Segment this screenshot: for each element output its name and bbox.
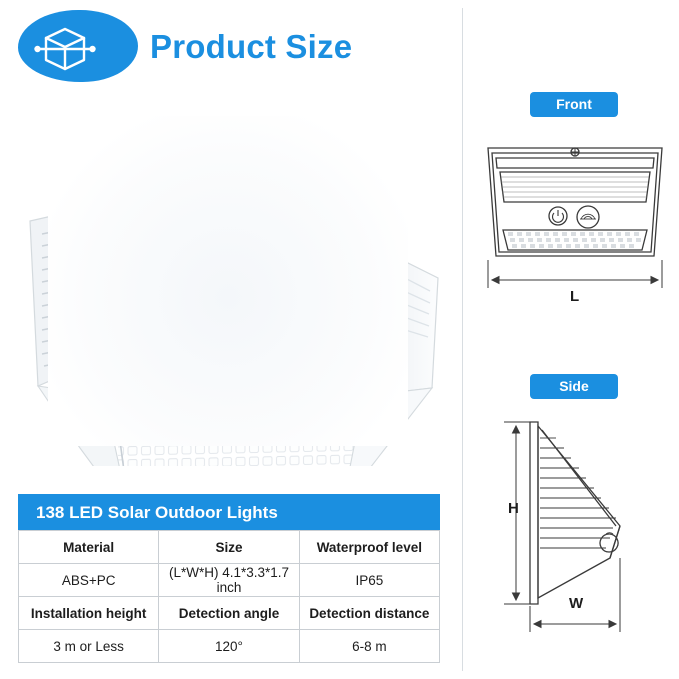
table-row: Installation height Detection angle Dete… (19, 597, 440, 630)
table-cell: Detection angle (159, 597, 299, 630)
table-cell: IP65 (299, 564, 439, 597)
table-cell: Material (19, 531, 159, 564)
product-size-infographic: Product Size (0, 0, 679, 679)
table-row: Material Size Waterproof level (19, 531, 440, 564)
header: Product Size (10, 6, 450, 84)
table-row: 3 m or Less 120° 6-8 m (19, 630, 440, 663)
left-panel: Product Size (0, 0, 455, 679)
spec-table: 138 LED Solar Outdoor Lights Material Si… (18, 494, 440, 663)
table-cell: Size (159, 531, 299, 564)
front-view-label: Front (530, 92, 618, 117)
side-dimension-H: H (508, 500, 519, 517)
table-cell: (L*W*H) 4.1*3.3*1.7 inch (159, 564, 299, 597)
table-cell: Installation height (19, 597, 159, 630)
table-row: ABS+PC (L*W*H) 4.1*3.3*1.7 inch IP65 (19, 564, 440, 597)
page-title: Product Size (150, 28, 352, 66)
right-panel: Front (470, 0, 679, 679)
side-view-label: Side (530, 374, 618, 399)
table-cell: Detection distance (299, 597, 439, 630)
solar-outdoor-light-photo (18, 96, 448, 466)
spec-table-title: 138 LED Solar Outdoor Lights (18, 494, 440, 530)
front-dimension-L: L (570, 288, 579, 305)
photo-backdrop (48, 116, 408, 446)
table-cell: 120° (159, 630, 299, 663)
table-cell: 3 m or Less (19, 630, 159, 663)
power-button-icon (553, 210, 564, 222)
table-cell: 6-8 m (299, 630, 439, 663)
table-cell: ABS+PC (19, 564, 159, 597)
front-view-diagram (470, 126, 679, 356)
panel-divider (462, 8, 463, 671)
table-cell: Waterproof level (299, 531, 439, 564)
box-dimension-icon (34, 24, 96, 74)
motion-sensor-icon (580, 214, 596, 219)
side-dimension-W: W (569, 595, 583, 612)
